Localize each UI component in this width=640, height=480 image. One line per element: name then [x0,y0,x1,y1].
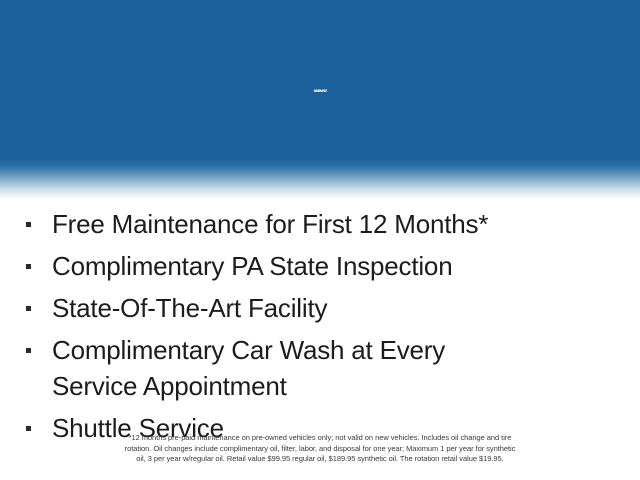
benefit-item-car-wash: Complimentary Car Wash at Every Service … [0,332,640,404]
benefits-list: Free Maintenance for First 12 Months* Co… [0,206,640,452]
benefit-label-line-1: Free Maintenance for First 12 Months* [52,206,640,242]
benefit-label-line-1: Complimentary PA State Inspection [52,248,640,284]
benefit-label: Complimentary PA State Inspection [52,248,640,284]
benefit-item-pa-state-inspection: Complimentary PA State Inspection [0,248,640,284]
disclaimer-line-3: oil, 3 per year w/regular oil. Retail va… [60,454,580,465]
square-bullet-icon [26,348,31,353]
disclaimer-text: *12 months pre-paid maintenance on pre-o… [60,433,580,465]
disclaimer-line-1: *12 months pre-paid maintenance on pre-o… [60,433,580,444]
benefit-label-line-1: State-Of-The-Art Facility [52,290,640,326]
disclaimer-line-2: rotation. Oil changes include compliment… [60,444,580,455]
square-bullet-icon [26,306,31,311]
banner-headline-line-2: MAINTENANCE [0,90,640,93]
benefit-label: Complimentary Car Wash at Every Service … [52,332,640,404]
square-bullet-icon [26,264,31,269]
benefit-item-free-maintenance: Free Maintenance for First 12 Months* [0,206,640,242]
benefit-label-line-2: Service Appointment [52,368,640,404]
benefit-label: State-Of-The-Art Facility [52,290,640,326]
benefit-label: Free Maintenance for First 12 Months* [52,206,640,242]
benefit-label-line-1: Complimentary Car Wash at Every [52,332,640,368]
header-banner: 1 YEAR FREE MAINTENANCE [0,0,640,200]
benefit-item-state-of-the-art-facility: State-Of-The-Art Facility [0,290,640,326]
square-bullet-icon [26,426,31,431]
promo-ad-card: 1 YEAR FREE MAINTENANCE Free Maintenance… [0,0,640,480]
square-bullet-icon [26,222,31,227]
